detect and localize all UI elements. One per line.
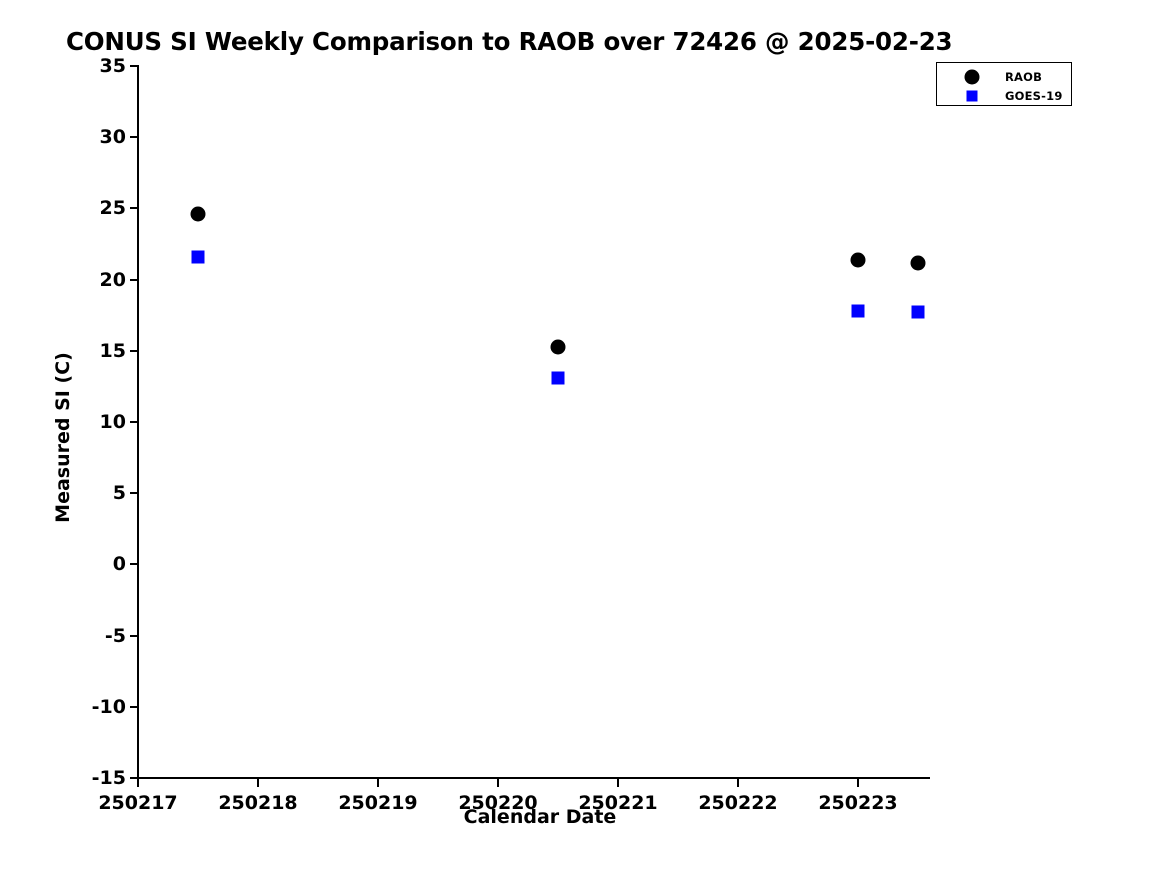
data-point-raob <box>911 255 926 270</box>
x-tick-label: 250223 <box>818 792 897 814</box>
legend-swatch <box>965 69 980 84</box>
y-tick-mark <box>130 706 138 708</box>
legend-label: RAOB <box>1005 70 1042 84</box>
x-tick-label: 250220 <box>458 792 537 814</box>
y-tick-mark <box>130 350 138 352</box>
square-marker <box>963 87 981 105</box>
y-axis-label: Measured SI (C) <box>48 0 78 875</box>
y-tick-mark <box>130 136 138 138</box>
data-point-goes-19 <box>552 371 565 384</box>
legend-label: GOES-19 <box>1005 89 1063 103</box>
y-tick-label: -5 <box>105 625 126 647</box>
y-tick-mark <box>130 563 138 565</box>
y-tick-label: 5 <box>113 482 126 504</box>
x-tick-label: 250222 <box>698 792 777 814</box>
data-point-raob <box>191 207 206 222</box>
x-tick-label: 250219 <box>338 792 417 814</box>
y-tick-label: 30 <box>100 126 126 148</box>
x-tick-mark <box>857 778 859 787</box>
data-point-raob <box>851 252 866 267</box>
y-tick-label: 15 <box>100 340 126 362</box>
y-tick-mark <box>130 65 138 67</box>
y-tick-mark <box>130 279 138 281</box>
x-tick-label: 250221 <box>578 792 657 814</box>
y-tick-mark <box>130 635 138 637</box>
y-tick-mark <box>130 421 138 423</box>
x-tick-mark <box>497 778 499 787</box>
y-tick-label: 25 <box>100 197 126 219</box>
x-tick-mark <box>737 778 739 787</box>
y-tick-label: 0 <box>113 553 126 575</box>
chart-figure: CONUS SI Weekly Comparison to RAOB over … <box>0 0 1167 875</box>
y-tick-label: 20 <box>100 269 126 291</box>
x-tick-mark <box>617 778 619 787</box>
legend-item: GOES-19 <box>937 85 1071 106</box>
x-tick-mark <box>257 778 259 787</box>
data-point-raob <box>551 340 566 355</box>
x-tick-label: 250217 <box>98 792 177 814</box>
x-tick-mark <box>377 778 379 787</box>
y-axis-label-wrapper: Measured SI (C) <box>66 0 96 875</box>
plot-area: 35302520151050-5-10-15 25021725021825021… <box>138 66 930 778</box>
data-point-goes-19 <box>852 304 865 317</box>
circle-marker <box>963 68 981 86</box>
y-tick-mark <box>130 492 138 494</box>
legend-swatch <box>967 90 978 101</box>
x-tick-label: 250218 <box>218 792 297 814</box>
y-tick-label: -10 <box>92 696 126 718</box>
legend: RAOBGOES-19 <box>936 62 1072 106</box>
legend-item: RAOB <box>937 66 1071 87</box>
data-point-goes-19 <box>192 250 205 263</box>
x-tick-mark <box>137 778 139 787</box>
y-tick-label: 35 <box>100 55 126 77</box>
y-tick-label: 10 <box>100 411 126 433</box>
y-tick-label: -15 <box>92 767 126 789</box>
page-title: CONUS SI Weekly Comparison to RAOB over … <box>66 27 986 56</box>
y-tick-mark <box>130 207 138 209</box>
data-point-goes-19 <box>912 305 925 318</box>
